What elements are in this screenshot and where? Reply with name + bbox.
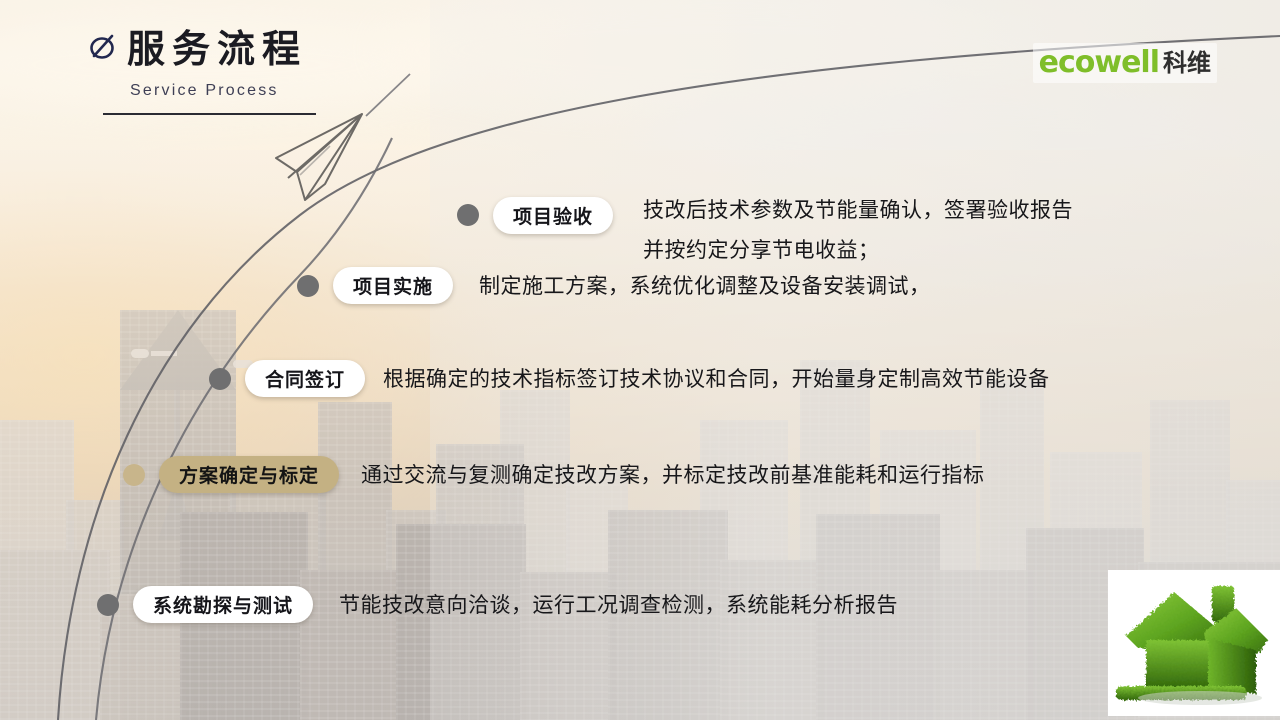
- step-label-pill[interactable]: 系统勘探与测试: [133, 586, 313, 623]
- page-title: 服务流程: [127, 26, 307, 72]
- step-description: 根据确定的技术指标签订技术协议和合同，开始量身定制高效节能设备: [383, 362, 1050, 396]
- title-underline: [103, 113, 316, 115]
- step-marker-dot: [457, 204, 479, 226]
- step-description: 通过交流与复测确定技改方案，并标定技改前基准能耗和运行指标: [361, 458, 985, 492]
- step-label-pill[interactable]: 项目验收: [493, 197, 613, 234]
- process-step-5[interactable]: 系统勘探与测试 节能技改意向洽谈，运行工况调查检测，系统能耗分析报告: [97, 586, 898, 623]
- step-label-pill[interactable]: 方案确定与标定: [159, 456, 339, 493]
- step-marker-dot: [123, 464, 145, 486]
- step-marker-dot: [97, 594, 119, 616]
- step-label-pill[interactable]: 项目实施: [333, 267, 453, 304]
- slashed-circle-icon: [88, 32, 118, 62]
- step-description: 节能技改意向洽谈，运行工况调查检测，系统能耗分析报告: [339, 588, 898, 622]
- process-step-4[interactable]: 方案确定与标定 通过交流与复测确定技改方案，并标定技改前基准能耗和运行指标: [123, 456, 985, 493]
- brand-logo: ecowell 科维: [1033, 43, 1217, 83]
- green-house-image: [1108, 570, 1280, 716]
- logo-wordmark: ecowell: [1039, 48, 1159, 78]
- process-step-1[interactable]: 项目验收 技改后技术参数及节能量确认，签署验收报告 并按约定分享节电收益；: [457, 160, 1073, 270]
- logo-chinese-name: 科维: [1163, 49, 1211, 77]
- step-description: 制定施工方案，系统优化调整及设备安装调试，: [479, 269, 931, 303]
- process-step-3[interactable]: 合同签订 根据确定的技术指标签订技术协议和合同，开始量身定制高效节能设备: [209, 360, 1050, 397]
- step-description: 技改后技术参数及节能量确认，签署验收报告 并按约定分享节电收益；: [643, 190, 1073, 270]
- slide-canvas: 服务流程 Service Process ecowell 科维 项目验收 技改后…: [0, 0, 1280, 720]
- step-marker-dot: [209, 368, 231, 390]
- process-step-2[interactable]: 项目实施 制定施工方案，系统优化调整及设备安装调试，: [297, 267, 931, 304]
- step-marker-dot: [297, 275, 319, 297]
- page-subtitle: Service Process: [130, 82, 279, 100]
- step-label-pill[interactable]: 合同签订: [245, 360, 365, 397]
